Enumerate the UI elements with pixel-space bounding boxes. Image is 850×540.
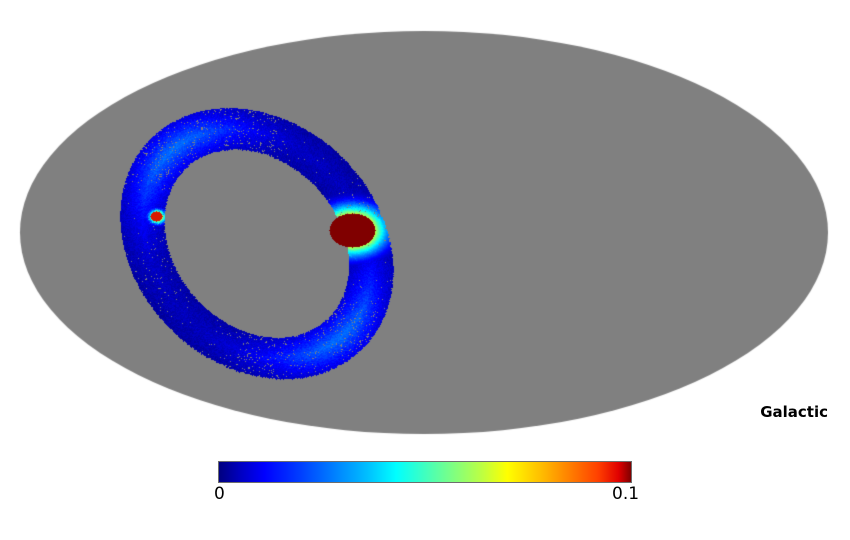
colorbar-max-label: 0.1 xyxy=(612,484,639,504)
coordinate-system-label: Galactic xyxy=(0,403,828,421)
colorbar-min-label: 0 xyxy=(214,484,225,504)
sky-map-mollweide xyxy=(0,0,850,450)
colorbar[interactable] xyxy=(218,461,632,483)
colorbar-gradient xyxy=(218,461,632,483)
figure-root: I Stokes Galactic 0 0.1 xyxy=(0,0,850,540)
